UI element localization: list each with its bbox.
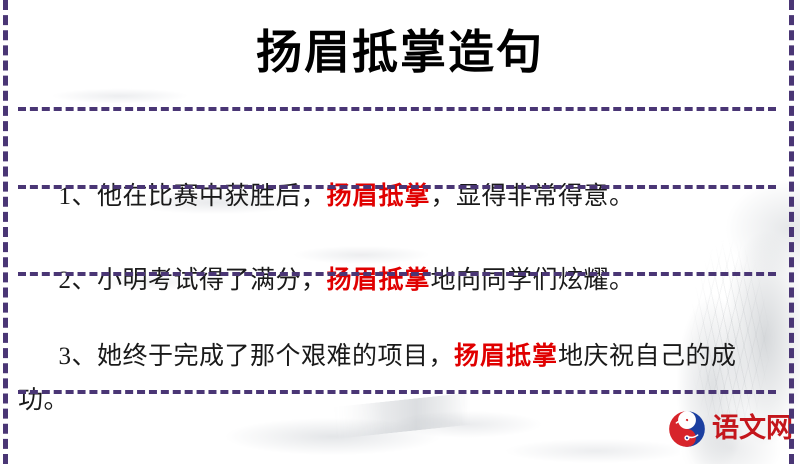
page-content: 扬眉抵掌造句 1、他在比赛中获胜后，扬眉抵掌，显得非常得意。 2、小明考试得了满… [0, 0, 800, 464]
page-border-left [3, 0, 8, 464]
page-title: 扬眉抵掌造句 [0, 24, 800, 80]
sentence-3-before: 她终于完成了那个艰难的项目， [97, 343, 454, 370]
site-logo[interactable]: 语文网 [668, 410, 793, 448]
sentence-3-idiom: 扬眉抵掌 [454, 341, 558, 370]
divider-3 [18, 272, 776, 276]
worksheet-page: 扬眉抵掌造句 1、他在比赛中获胜后，扬眉抵掌，显得非常得意。 2、小明考试得了满… [0, 0, 800, 464]
divider-2 [18, 185, 776, 189]
page-border-right [789, 0, 794, 464]
yinyang-fish-icon [668, 410, 706, 448]
divider-4 [18, 390, 776, 394]
sentence-item-3: 3、她终于完成了那个艰难的项目，扬眉抵掌地庆祝自己的成功。 [18, 290, 780, 464]
divider-1 [18, 107, 776, 111]
sentence-3-number: 3、 [59, 343, 98, 370]
site-logo-text: 语文网 [712, 414, 793, 444]
